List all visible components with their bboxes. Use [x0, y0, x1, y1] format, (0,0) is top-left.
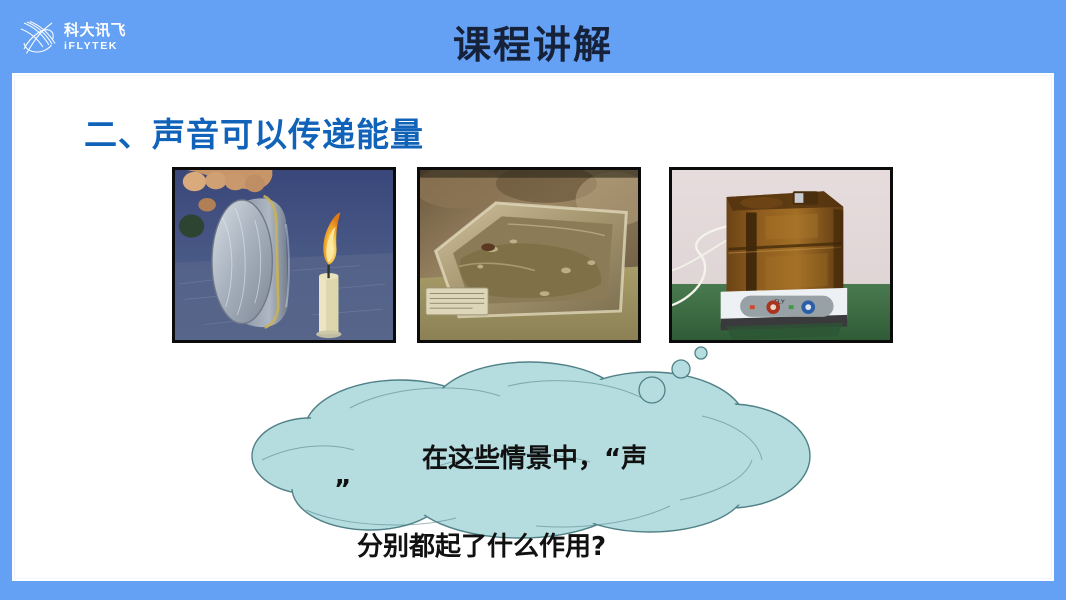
photo-ultrasonic-cleaner [417, 167, 641, 343]
thought-bubble-large [639, 377, 665, 403]
thought-bubble-small [695, 347, 707, 359]
thought-cloud [250, 338, 850, 566]
slide-left-border [0, 73, 12, 581]
thought-bubble-medium [672, 360, 690, 378]
section-heading: 二、声音可以传递能量 [84, 108, 424, 156]
thought-cloud-shape [250, 338, 850, 566]
photo-ultrasonic-humidifier: iFLY [669, 167, 893, 343]
slide-footer-bar [0, 581, 1066, 600]
photo-ultrasonic-cleaner-graphic [420, 170, 638, 340]
slide-title: 课程讲解 [0, 14, 1066, 69]
photo-drum-and-candle [172, 167, 396, 343]
presentation-slide: 科大讯飞 iFLYTEK 课程讲解 二、声音可以传递能量 [0, 0, 1066, 600]
photo-ultrasonic-humidifier-graphic: iFLY [672, 170, 890, 340]
slide-right-border [1054, 73, 1066, 581]
photo-drum-and-candle-graphic [175, 170, 393, 340]
